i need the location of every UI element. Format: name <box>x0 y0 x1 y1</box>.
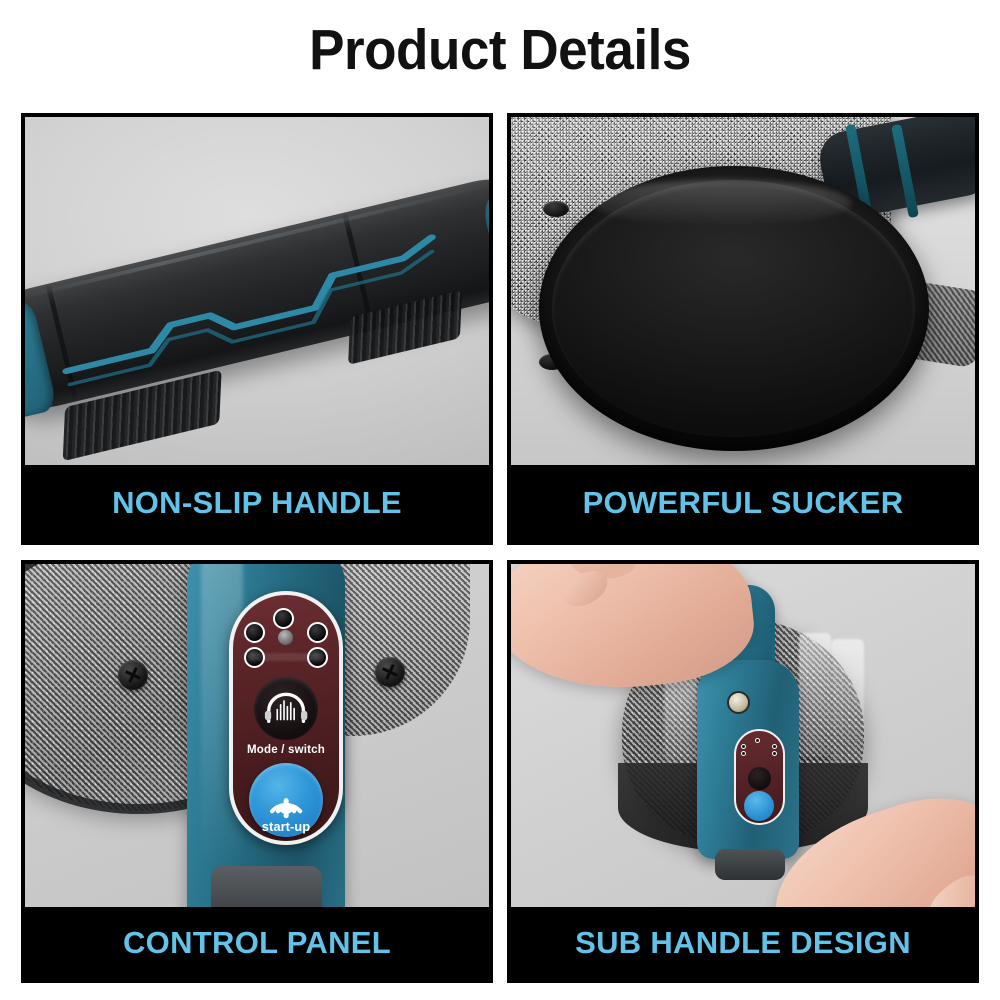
start-up-button[interactable] <box>744 791 774 821</box>
caption-bar-powerful-sucker: POWERFUL SUCKER <box>511 465 975 541</box>
feature-card-sub-handle-design[interactable]: SUB HANDLE DESIGN <box>507 560 979 983</box>
bubble-level-icon <box>727 691 750 714</box>
caption-label: CONTROL PANEL <box>123 925 391 961</box>
control-panel[interactable]: Mode / switch start-up <box>229 591 343 845</box>
caption-label: SUB HANDLE DESIGN <box>575 925 911 961</box>
mode-switch-label: Mode / switch <box>233 744 339 756</box>
phillips-screw-icon <box>375 657 405 687</box>
led-indicator <box>755 738 760 743</box>
photo-non-slip-handle <box>25 117 489 465</box>
suction-cup-highlight <box>593 180 850 226</box>
feature-card-control-panel[interactable]: Mode / switch start-up CONTROL PANEL <box>21 560 493 983</box>
led-indicator-group <box>736 738 783 762</box>
caption-label: POWERFUL SUCKER <box>583 485 904 521</box>
control-panel-small[interactable] <box>734 729 785 825</box>
housing-rib <box>831 639 863 762</box>
product-details-page: Product Details <box>0 0 1000 1000</box>
led-indicator <box>307 622 328 643</box>
panel-engraving <box>248 653 324 661</box>
caption-bar-control-panel: CONTROL PANEL <box>25 907 489 979</box>
mode-switch-button[interactable] <box>748 767 771 790</box>
led-indicator <box>772 751 777 756</box>
led-indicator <box>244 622 265 643</box>
led-indicator <box>741 751 746 756</box>
phillips-screw-icon <box>118 660 148 690</box>
start-up-label: start-up <box>233 819 339 834</box>
suction-cup <box>539 166 929 451</box>
hand-fingers <box>921 868 975 907</box>
led-indicator <box>772 744 777 749</box>
caption-label: NON-SLIP HANDLE <box>112 485 402 521</box>
led-indicator <box>273 608 294 629</box>
bolt-hole <box>543 201 569 217</box>
photo-powerful-sucker <box>511 117 975 465</box>
tool-base <box>211 866 322 907</box>
page-title: Product Details <box>35 22 965 79</box>
waveform-icon <box>254 677 317 740</box>
housing-rib <box>799 633 831 756</box>
caption-bar-non-slip-handle: NON-SLIP HANDLE <box>25 465 489 541</box>
feature-card-grid: NON-SLIP HANDLE POWERFUL SUCKER <box>21 113 979 983</box>
caption-bar-sub-handle-design: SUB HANDLE DESIGN <box>511 907 975 979</box>
photo-control-panel: Mode / switch start-up <box>25 564 489 907</box>
photo-sub-handle-design <box>511 564 975 907</box>
tool-base <box>715 849 785 880</box>
pressure-sensor-dot <box>278 630 293 645</box>
led-indicator <box>741 744 746 749</box>
feature-card-powerful-sucker[interactable]: POWERFUL SUCKER <box>507 113 979 545</box>
feature-card-non-slip-handle[interactable]: NON-SLIP HANDLE <box>21 113 493 545</box>
